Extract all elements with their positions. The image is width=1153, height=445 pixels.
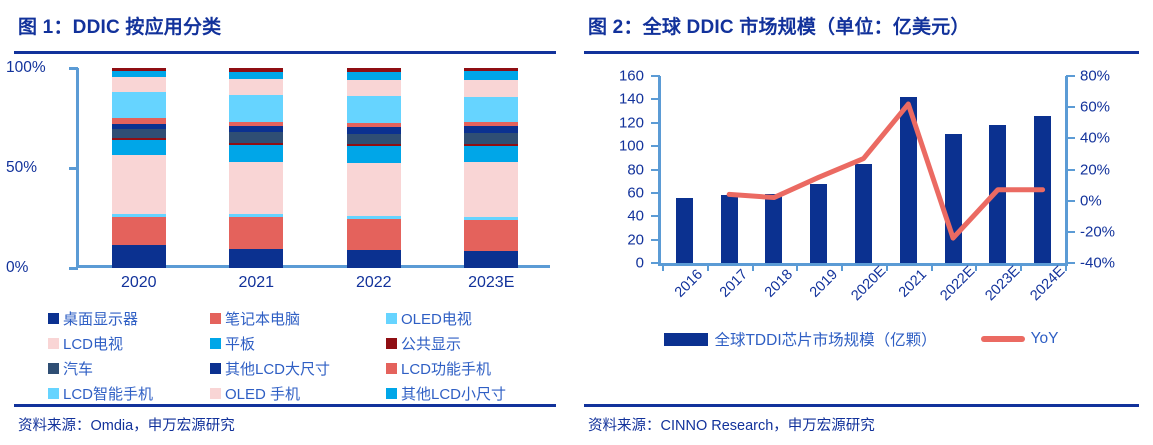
chart2-x-tick-label: 2021 (896, 267, 930, 301)
chart2-left-tick-label: 80 (627, 161, 644, 178)
chart1-bar-segment (464, 133, 518, 144)
chart2-x-label-cell: 2017 (707, 272, 752, 332)
chart1-legend-label: 笔记本电脑 (225, 308, 300, 329)
chart2-x-tick (1065, 263, 1067, 271)
chart2-right-tick-label: 80% (1080, 68, 1110, 85)
chart1-legend-label: 桌面显示器 (63, 308, 138, 329)
chart1-legend-item[interactable]: LCD智能手机 (48, 383, 210, 404)
chart1-bar-segment (347, 134, 401, 144)
chart2-plot-area (662, 76, 1065, 263)
figure-2-title-rule (584, 51, 1139, 54)
chart1-plot-area (80, 68, 550, 268)
chart2-x-tick (752, 263, 754, 271)
chart2-x-tick (886, 263, 888, 271)
chart1-bar-segment (464, 146, 518, 162)
legend-swatch-icon (210, 363, 221, 374)
chart2-right-tick-label: 40% (1080, 130, 1110, 147)
chart1-bar-segment (464, 80, 518, 97)
chart1-bar-segment (347, 80, 401, 96)
legend-swatch-icon (48, 338, 59, 349)
legend-swatch-icon (210, 388, 221, 399)
chart2-right-tick (1066, 106, 1075, 108)
chart1-bar-group (80, 68, 550, 268)
chart2-left-tick-label: 0 (636, 255, 644, 272)
chart2-legend-item[interactable]: YoY (981, 330, 1059, 348)
chart2-left-tick (651, 122, 660, 124)
chart1-bar-segment (229, 162, 283, 214)
chart2-x-tick-label: 2024E (1027, 263, 1068, 304)
chart1-legend-item[interactable]: LCD电视 (48, 333, 210, 354)
chart1-bar-segment (347, 72, 401, 80)
chart1-x-tick-label: 2023E (433, 274, 551, 292)
chart1-legend-label: LCD电视 (63, 333, 123, 354)
chart2-x-label-cell: 2020E (841, 272, 886, 332)
chart2-left-tick-label: 140 (619, 91, 644, 108)
chart2-left-tick-label: 40 (627, 208, 644, 225)
chart1-bar-segment (229, 79, 283, 95)
chart2-left-tick (651, 75, 660, 77)
figure-2-footer-rule (584, 404, 1139, 407)
chart2-x-label-cell: 2016 (662, 272, 707, 332)
chart1-legend-label: 其他LCD大尺寸 (225, 358, 330, 379)
chart2-left-tick (651, 239, 660, 241)
chart1-bar-segment (229, 249, 283, 268)
chart2-x-label-cell: 2019 (796, 272, 841, 332)
chart2-x-tick-label: 2023E (982, 263, 1023, 304)
chart1-legend-item[interactable]: 其他LCD大尺寸 (210, 358, 386, 379)
chart1-bar-column[interactable] (80, 68, 198, 268)
chart2-x-label-cell: 2018 (752, 272, 797, 332)
figure-2-chart: 020406080100120140160 -40%-20%0%20%40%60… (584, 60, 1139, 360)
chart1-bar-segment (112, 92, 166, 118)
chart2-yoy-line (662, 76, 1065, 263)
chart2-left-tick-label: 20 (627, 231, 644, 248)
chart1-y-tick (69, 67, 78, 70)
chart1-bar-column[interactable] (433, 68, 551, 268)
chart1-bar-segment (229, 217, 283, 249)
legend-swatch-icon (386, 363, 397, 374)
chart1-bar-segment (347, 96, 401, 123)
chart2-right-tick (1066, 262, 1075, 264)
chart2-right-tick-label: 20% (1080, 161, 1110, 178)
chart1-legend-item[interactable]: 桌面显示器 (48, 308, 210, 329)
chart1-bar-segment (229, 132, 283, 143)
chart1-bar-segment (347, 146, 401, 163)
chart2-x-axis-line (658, 263, 1068, 266)
chart2-left-tick (651, 192, 660, 194)
chart1-bar-segment (229, 145, 283, 162)
chart2-left-tick (651, 215, 660, 217)
chart2-right-tick (1066, 137, 1075, 139)
chart2-x-label-cell: 2022E (931, 272, 976, 332)
legend-swatch-icon (48, 388, 59, 399)
chart2-x-label-cell: 2021 (886, 272, 931, 332)
chart2-right-tick (1066, 75, 1075, 77)
chart1-legend-label: 其他LCD小尺寸 (401, 383, 506, 404)
chart1-legend-item[interactable]: 笔记本电脑 (210, 308, 386, 329)
chart2-legend: 全球TDDI芯片市场规模（亿颗）YoY (584, 328, 1139, 350)
chart1-bar-segment (464, 126, 518, 133)
legend-swatch-icon (386, 388, 397, 399)
chart2-left-tick-label: 60 (627, 184, 644, 201)
figure-2-panel: 图 2：全球 DDIC 市场规模（单位：亿美元） 020406080100120… (570, 0, 1153, 445)
chart2-x-tick-label: 2016 (672, 267, 706, 301)
chart2-right-tick (1066, 169, 1075, 171)
figure-1-source: 资料来源：Omdia，申万宏源研究 (18, 414, 235, 435)
chart1-bar-segment (229, 72, 283, 79)
chart1-bar-segment (112, 129, 166, 138)
chart1-legend-label: OLED电视 (401, 308, 472, 329)
legend-swatch-icon (386, 313, 397, 324)
figure-1-footer-rule (14, 404, 556, 407)
legend-swatch-icon (386, 338, 397, 349)
chart1-bar-segment (464, 97, 518, 122)
chart2-right-tick-label: 0% (1080, 192, 1102, 209)
chart1-y-tick (69, 267, 78, 270)
chart1-bar-segment (347, 250, 401, 268)
chart2-right-axis-line (1065, 76, 1068, 266)
chart2-left-tick-label: 100 (619, 138, 644, 155)
chart1-bar-column[interactable] (315, 68, 433, 268)
figure-2-source: 资料来源：CINNO Research，申万宏源研究 (588, 414, 875, 435)
chart1-bar-segment (347, 127, 401, 134)
chart2-x-tick (662, 263, 664, 271)
chart1-legend: 桌面显示器笔记本电脑OLED电视LCD电视平板公共显示汽车其他LCD大尺寸LCD… (48, 308, 568, 404)
chart1-x-tick-label: 2022 (315, 274, 433, 292)
chart1-legend-label: 公共显示 (401, 333, 461, 354)
chart1-bar-segment (464, 220, 518, 251)
chart1-legend-label: OLED 手机 (225, 383, 300, 404)
chart2-right-tick-label: -20% (1080, 223, 1115, 240)
chart2-left-axis-line (658, 76, 661, 266)
chart1-legend-item[interactable]: OLED 手机 (210, 383, 386, 404)
chart2-x-tick-label: 2022E (937, 263, 978, 304)
chart1-bar-segment (112, 155, 166, 214)
figure-page: 图 1：DDIC 按应用分类 0%50%100% 202020212022202… (0, 0, 1153, 445)
figure-1-chart: 0%50%100% 2020202120222023E 桌面显示器笔记本电脑OL… (14, 60, 556, 288)
chart2-x-tick (1020, 263, 1022, 271)
legend-swatch-icon (210, 338, 221, 349)
legend-swatch-icon (48, 313, 59, 324)
chart2-left-tick-label: 160 (619, 68, 644, 85)
chart1-bar-segment (112, 140, 166, 155)
chart2-x-axis-labels: 20162017201820192020E20212022E2023E2024E (662, 272, 1065, 332)
chart2-legend-label: 全球TDDI芯片市场规模（亿颗） (714, 328, 936, 350)
legend-bar-icon (664, 333, 708, 346)
chart1-bar-segment (112, 245, 166, 268)
chart1-bar-segment (229, 95, 283, 122)
chart1-bar-segment (347, 163, 401, 216)
chart1-legend-label: LCD智能手机 (63, 383, 153, 404)
chart2-x-tick (796, 263, 798, 271)
chart1-bar-segment (464, 162, 518, 217)
chart1-legend-label: 平板 (225, 333, 255, 354)
figure-1-title-rule (14, 51, 556, 54)
chart2-x-tick-label: 2018 (762, 267, 796, 301)
chart1-bar-segment (112, 217, 166, 245)
chart1-stacked-bar[interactable] (347, 68, 401, 268)
chart2-left-tick (651, 169, 660, 171)
legend-swatch-icon (210, 313, 221, 324)
chart2-x-tick-label: 2019 (807, 267, 841, 301)
chart2-left-tick-label: 120 (619, 114, 644, 131)
chart2-yoy-polyline (729, 104, 1042, 238)
chart2-x-tick (931, 263, 933, 271)
chart2-legend-item[interactable]: 全球TDDI芯片市场规模（亿颗） (664, 328, 936, 350)
chart1-stacked-bar[interactable] (112, 68, 166, 268)
chart2-right-tick-label: 60% (1080, 99, 1110, 116)
chart1-y-tick (69, 167, 78, 170)
chart2-right-tick (1066, 231, 1075, 233)
chart1-legend-item[interactable]: LCD功能手机 (386, 358, 556, 379)
chart1-legend-item[interactable]: 公共显示 (386, 333, 556, 354)
chart2-x-tick-label: 2017 (717, 267, 751, 301)
chart1-bar-segment (464, 251, 518, 268)
chart1-x-tick-label: 2020 (80, 274, 198, 292)
chart1-legend-label: LCD功能手机 (401, 358, 491, 379)
chart2-x-label-cell: 2024E (1020, 272, 1065, 332)
chart2-x-tick (707, 263, 709, 271)
chart1-bar-segment (112, 77, 166, 92)
chart2-x-tick-label: 2020E (848, 263, 889, 304)
chart2-right-tick (1066, 200, 1075, 202)
chart2-legend-label: YoY (1031, 330, 1059, 348)
chart1-legend-item[interactable]: 平板 (210, 333, 386, 354)
chart1-legend-item[interactable]: 汽车 (48, 358, 210, 379)
chart2-x-label-cell: 2023E (975, 272, 1020, 332)
chart2-right-tick-label: -40% (1080, 255, 1115, 272)
figure-2-title: 图 2：全球 DDIC 市场规模（单位：亿美元） (584, 0, 1139, 39)
chart1-legend-label: 汽车 (63, 358, 93, 379)
chart2-left-tick (651, 145, 660, 147)
chart1-x-axis-labels: 2020202120222023E (80, 274, 550, 292)
chart1-legend-item[interactable]: 其他LCD小尺寸 (386, 383, 556, 404)
chart1-bar-segment (347, 219, 401, 250)
chart2-x-tick (841, 263, 843, 271)
chart1-bar-column[interactable] (198, 68, 316, 268)
chart1-stacked-bar[interactable] (229, 68, 283, 268)
chart2-left-tick (651, 98, 660, 100)
chart1-stacked-bar[interactable] (464, 68, 518, 268)
legend-swatch-icon (48, 363, 59, 374)
chart1-legend-item[interactable]: OLED电视 (386, 308, 556, 329)
figure-1-panel: 图 1：DDIC 按应用分类 0%50%100% 202020212022202… (0, 0, 570, 445)
chart2-x-tick (975, 263, 977, 271)
chart2-left-tick (651, 262, 660, 264)
chart1-bar-segment (464, 71, 518, 80)
legend-line-icon (981, 336, 1025, 342)
chart1-x-tick-label: 2021 (198, 274, 316, 292)
figure-1-title: 图 1：DDIC 按应用分类 (14, 0, 556, 39)
